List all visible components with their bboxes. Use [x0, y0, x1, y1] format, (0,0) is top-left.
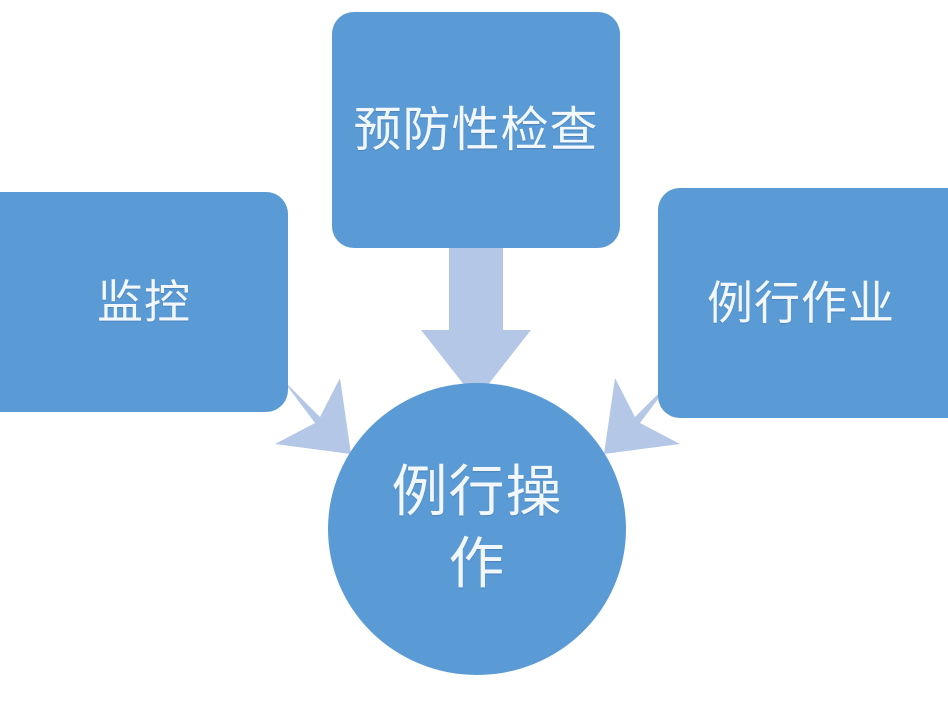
node-monitoring[interactable]: 监控: [0, 192, 288, 412]
arrow-top-down-icon: [421, 248, 531, 400]
node-label-routine-job: 例行作业: [707, 276, 895, 330]
node-label-routine-operation: 例行操 作: [392, 457, 563, 600]
node-label-preventive-inspection: 预防性检查: [353, 102, 598, 159]
node-routine-job[interactable]: 例行作业: [658, 188, 948, 418]
node-preventive-inspection[interactable]: 预防性检查: [332, 12, 620, 248]
node-routine-operation[interactable]: 例行操 作: [328, 383, 626, 675]
diagram-canvas: 预防性检查 监控 例行作业 例行操 作: [0, 0, 948, 705]
node-label-monitoring: 监控: [97, 275, 191, 329]
